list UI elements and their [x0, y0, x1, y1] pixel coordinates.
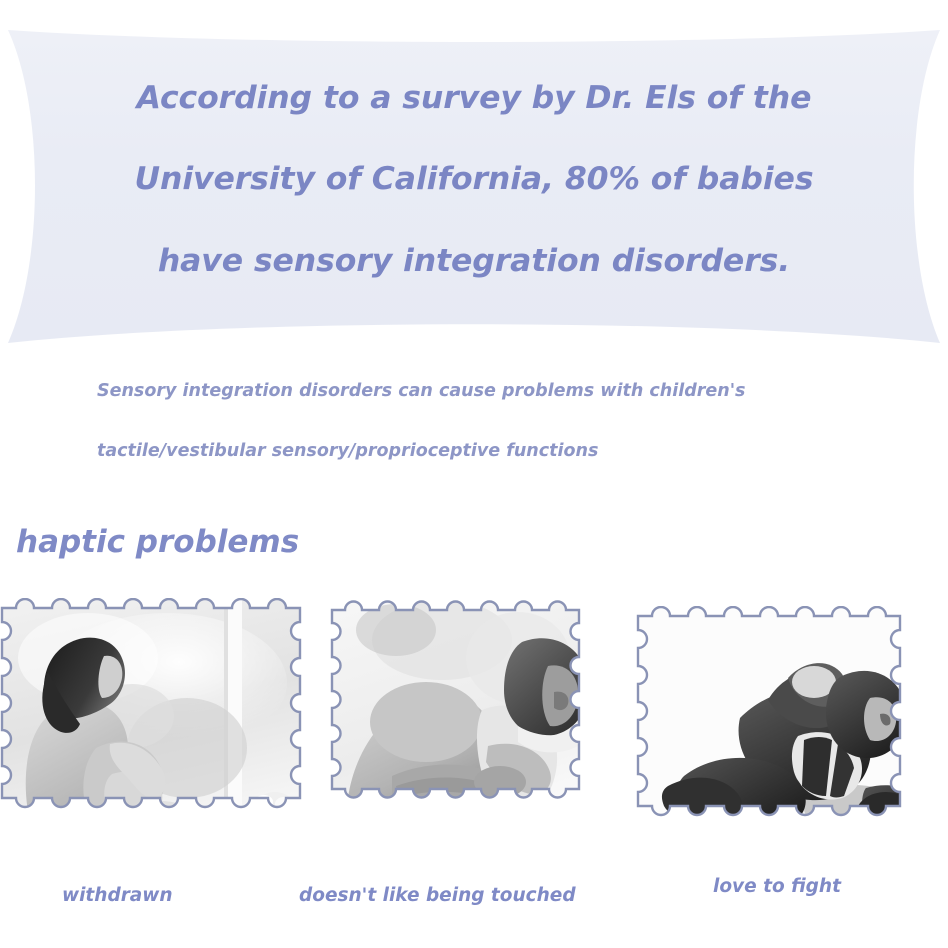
- subtext-line-2: tactile/vestibular sensory/proprioceptiv…: [97, 443, 897, 461]
- infographic-page: According to a survey by Dr. Els of the …: [0, 0, 948, 948]
- stamp-frame-2: [322, 600, 616, 850]
- subtext-line-1: Sensory integration disorders can cause …: [97, 383, 897, 401]
- caption-withdrawn: withdrawn: [62, 887, 173, 906]
- hero-text-block: According to a survey by Dr. Els of the …: [0, 0, 948, 360]
- subtext-block: Sensory integration disorders can cause …: [97, 383, 897, 460]
- gallery-item-withdrawn: [0, 598, 312, 850]
- caption-love-to-fight: love to fight: [713, 878, 841, 897]
- stamp-frame-1: [0, 598, 312, 850]
- stamp-frame-3: [628, 606, 940, 860]
- hero-banner: According to a survey by Dr. Els of the …: [0, 0, 948, 360]
- hero-line-2: University of California, 80% of babies: [135, 164, 814, 196]
- gallery-item-love-to-fight: [628, 606, 940, 860]
- caption-doesnt-like-being-touched: doesn't like being touched: [299, 887, 576, 906]
- section-heading-haptic-problems: haptic problems: [16, 527, 299, 558]
- photo-withdrawn: [0, 598, 312, 850]
- gallery-item-doesnt-like-being-touched: [322, 600, 616, 850]
- hero-line-3: have sensory integration disorders.: [158, 246, 790, 278]
- hero-line-1: According to a survey by Dr. Els of the: [137, 83, 812, 115]
